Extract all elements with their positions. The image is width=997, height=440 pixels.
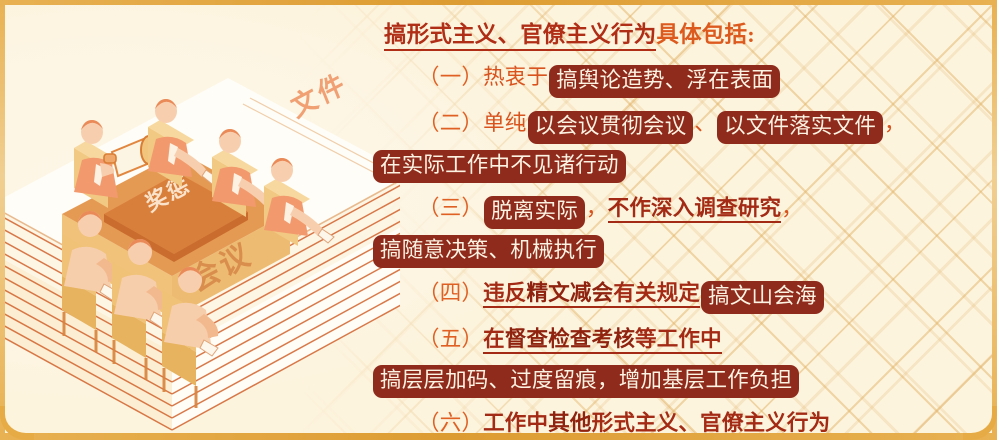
item-segment-plain: 单纯 — [483, 111, 526, 135]
item-segment-pill: 脱离实际 — [484, 196, 585, 229]
item-segment-pill: 搞层层加码、过度留痕，增加基层工作负担 — [373, 365, 799, 398]
item-number: （三） — [418, 196, 483, 220]
item-segment-underlined-strong: 督查检查考核 — [505, 327, 635, 354]
item-number: （六） — [418, 411, 483, 435]
item-number: （一） — [418, 65, 483, 89]
item-segment-underlined: 在 — [483, 327, 505, 354]
item-segment-underlined: 等工作中 — [635, 327, 722, 354]
label-documents: 文件 — [287, 67, 352, 124]
meeting-illustration: 文件 奖惩 会议 — [0, 0, 400, 440]
item-number: （四） — [418, 281, 483, 305]
title-tail: 具体包括: — [656, 22, 755, 47]
item-segment-pill: 以会议贯彻会议 — [528, 111, 694, 144]
text-column: 搞形式主义、官僚主义行为具体包括: （一）热衷于搞舆论造势、浮在表面 （二）单纯… — [372, 18, 987, 430]
list-item-3: （三）脱离实际，不作深入调查研究，搞随意决策、机械执行 — [372, 190, 987, 268]
item-segment-plain: ， — [586, 196, 608, 220]
item-segment-pill: 搞文山会海 — [701, 281, 824, 314]
item-segment-plain: 、 — [694, 111, 716, 135]
item-number: （五） — [418, 327, 483, 351]
item-segment-underlined: 形式主义、官僚主义行为 — [592, 411, 831, 438]
list-item-2: （二）单纯以会议贯彻会议、以文件落实文件，在实际工作中不见诸行动 — [372, 105, 987, 183]
item-segment-pill: 搞舆论造势、浮在表面 — [549, 65, 780, 98]
item-segment-underlined: 有关规定 — [613, 281, 700, 308]
item-segment-underlined: 违反 — [483, 281, 526, 308]
list-item-6: （六）工作中其他形式主义、官僚主义行为 — [372, 405, 987, 440]
list-item-5: （五）在督查检查考核等工作中搞层层加码、过度留痕，增加基层工作负担 — [372, 321, 987, 398]
item-number: （二） — [418, 111, 483, 135]
item-segment-pill: 搞随意决策、机械执行 — [373, 235, 604, 268]
item-segment-plain: 热衷于 — [483, 65, 548, 89]
item-segment-pill: 以文件落实文件 — [717, 111, 883, 144]
list-item-4: （四）违反精文减会有关规定搞文山会海 — [372, 275, 987, 314]
item-segment-underlined-strong: 其他 — [548, 411, 591, 438]
frame-border-right — [992, 0, 997, 440]
item-segment-underlined: 工作中 — [483, 411, 548, 438]
item-segment-plain: ， — [884, 111, 906, 135]
title-emphasis: 搞形式主义、官僚主义行为 — [384, 22, 656, 51]
item-segment-plain: ， — [781, 196, 803, 220]
list-item-1: （一）热衷于搞舆论造势、浮在表面 — [372, 59, 987, 98]
poster-canvas: 文件 奖惩 会议 — [0, 0, 997, 440]
item-segment-underlined-strong: 精文减会 — [527, 281, 614, 308]
page-title: 搞形式主义、官僚主义行为具体包括: — [384, 18, 987, 52]
item-segment-underlined: 不作深入调查研究 — [608, 196, 782, 223]
item-segment-pill: 在实际工作中不见诸行动 — [373, 150, 626, 183]
svg-text:文件: 文件 — [287, 67, 352, 124]
